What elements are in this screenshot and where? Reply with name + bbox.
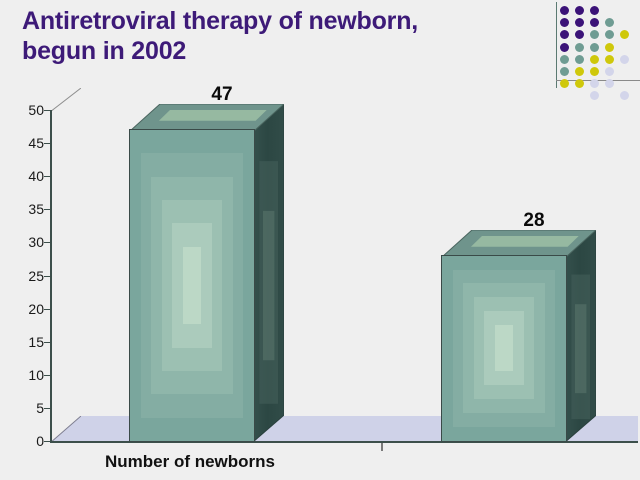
y-axis-tick-mark [44,143,50,144]
bar-chart: 50454035302520151050 4728 Number of newb… [0,0,640,480]
bar-top-face [130,104,284,132]
y-axis-labels: 50454035302520151050 [0,0,44,460]
bar-value-label: 28 [472,210,596,232]
x-axis-line [50,441,638,443]
y-axis-tick-mark [44,110,50,111]
bar-front-face [130,130,254,441]
y-axis-tick-label: 40 [4,168,44,184]
bar-side-face [254,104,284,441]
y-axis-tick-label: 10 [4,367,44,383]
y-axis-tick-mark [44,309,50,310]
y-axis-tick-mark [44,408,50,409]
y-axis-tick-label: 0 [4,433,44,449]
chart-floor-diagonal [50,416,80,443]
bar-front-face [442,256,566,441]
bar-gradient-band [183,247,202,325]
y-axis-tick-label: 50 [4,102,44,118]
chart-backwall-diagonal [50,88,81,112]
y-axis-tick-mark [44,441,50,442]
y-axis-tick-mark [44,342,50,343]
y-axis-tick-mark [44,375,50,376]
bar-top-face [442,230,596,258]
y-axis-tick-label: 15 [4,334,44,350]
x-axis-tick [381,443,383,451]
y-axis-line [50,110,52,442]
y-axis-tick-label: 25 [4,268,44,284]
y-axis-tick-label: 45 [4,135,44,151]
y-axis-tick-label: 5 [4,400,44,416]
y-axis-tick-label: 20 [4,301,44,317]
y-axis-tick-mark [44,209,50,210]
y-axis-tick-mark [44,176,50,177]
y-axis-tick-label: 35 [4,201,44,217]
slide-root: Antiretroviral therapy of newborn, begun… [0,0,640,480]
y-axis-tick-mark [44,276,50,277]
x-axis-label: Number of newborns [0,452,380,472]
y-axis-tick-label: 30 [4,234,44,250]
y-axis-tick-mark [44,242,50,243]
bar-side-face [566,230,596,441]
bar-value-label: 47 [160,84,284,106]
bar-gradient-band [495,325,514,371]
